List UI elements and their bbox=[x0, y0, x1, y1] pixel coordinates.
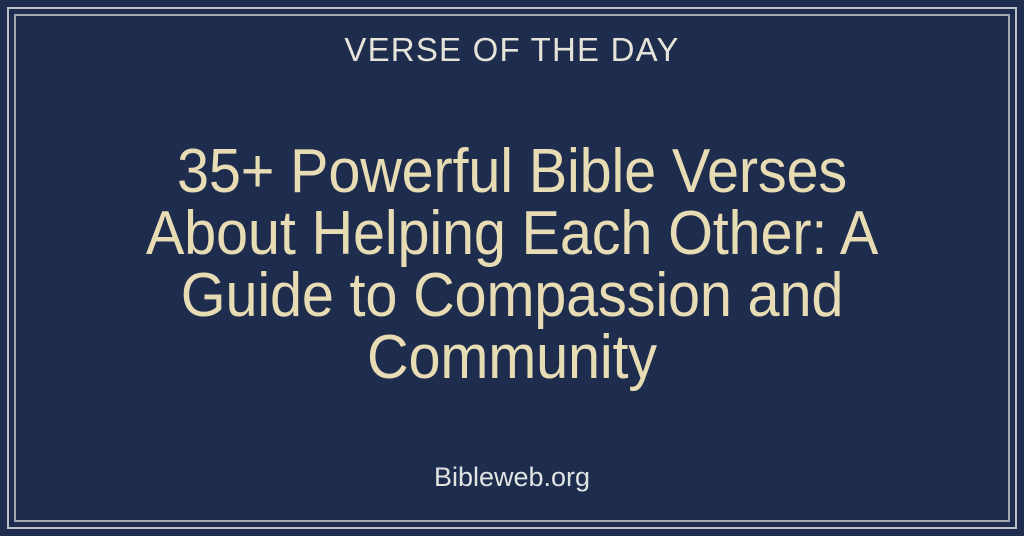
site-attribution: Bibleweb.org bbox=[434, 463, 590, 493]
page-title: 35+ Powerful Bible Verses About Helping … bbox=[103, 141, 921, 389]
eyebrow-label: VERSE OF THE DAY bbox=[344, 33, 679, 68]
title-container: 35+ Powerful Bible Verses About Helping … bbox=[18, 68, 1006, 464]
card-content: VERSE OF THE DAY 35+ Powerful Bible Vers… bbox=[18, 18, 1006, 518]
verse-of-the-day-card: VERSE OF THE DAY 35+ Powerful Bible Vers… bbox=[0, 0, 1024, 536]
